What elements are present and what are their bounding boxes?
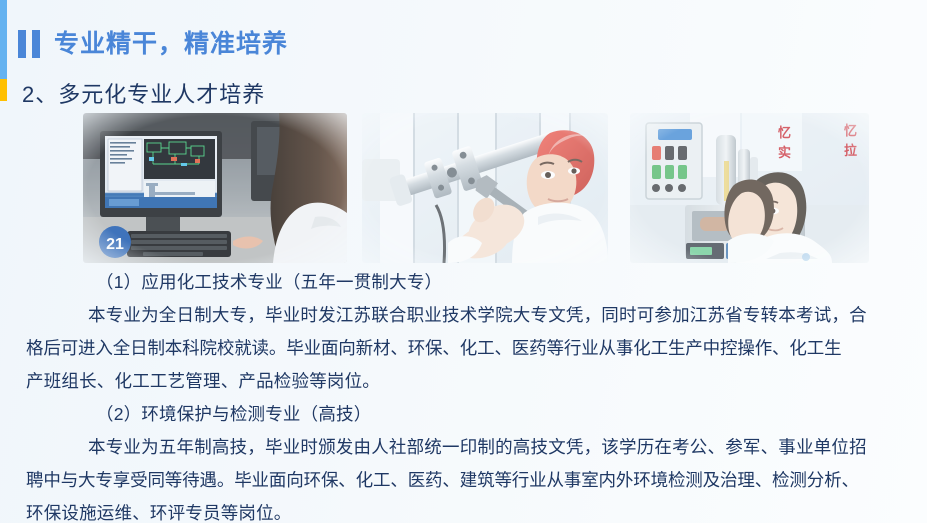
photo-strip: 21: [0, 113, 927, 265]
heading-ticks-icon: [18, 30, 40, 58]
pipe-wrench-photo: [362, 113, 608, 263]
program-1-line-1: 本专业为全日制大专，毕业时发江苏联合职业技术学院大专文凭，同时可参加江苏省专转本…: [26, 299, 906, 332]
laboratory-photo: 忆 实 忆 拉: [630, 113, 869, 263]
slide-canvas: 专业精干，精准培养 2、多元化专业人才培养: [0, 0, 927, 523]
program-1-line-3: 产班组长、化工工艺管理、产品检验等岗位。: [26, 365, 906, 398]
program-2-line-1: 本专业为五年制高技，毕业时颁发由人社部统一印制的高技文凭，该学历在考公、参军、事…: [26, 431, 906, 464]
heading-title: 专业精干，精准培养: [54, 32, 288, 57]
program-2-line-3: 环保设施运维、环评专员等岗位。: [26, 497, 906, 523]
left-edge-bar-blue: [0, 0, 7, 79]
section-heading: 专业精干，精准培养: [18, 27, 288, 61]
heading-tick-2-icon: [32, 30, 40, 58]
left-edge-bar-orange: [0, 79, 7, 101]
program-1-title: （1）应用化工技术专业（五年一贯制大专）: [26, 266, 906, 299]
body-copy: （1）应用化工技术专业（五年一贯制大专） 本专业为全日制大专，毕业时发江苏联合职…: [26, 266, 906, 523]
computer-simulation-photo: 21: [83, 113, 347, 263]
heading-tick-1-icon: [18, 30, 26, 58]
sub-heading: 2、多元化专业人才培养: [22, 77, 265, 109]
program-2-line-2: 聘中与大专享受同等待遇。毕业面向环保、化工、医药、建筑等行业从事室内外环境检测及…: [26, 464, 906, 497]
program-2-title: （2）环境保护与检测专业（高技）: [26, 398, 906, 431]
program-1-line-2: 格后可进入全日制本科院校就读。毕业面向新材、环保、化工、医药等行业从事化工生产中…: [26, 332, 906, 365]
